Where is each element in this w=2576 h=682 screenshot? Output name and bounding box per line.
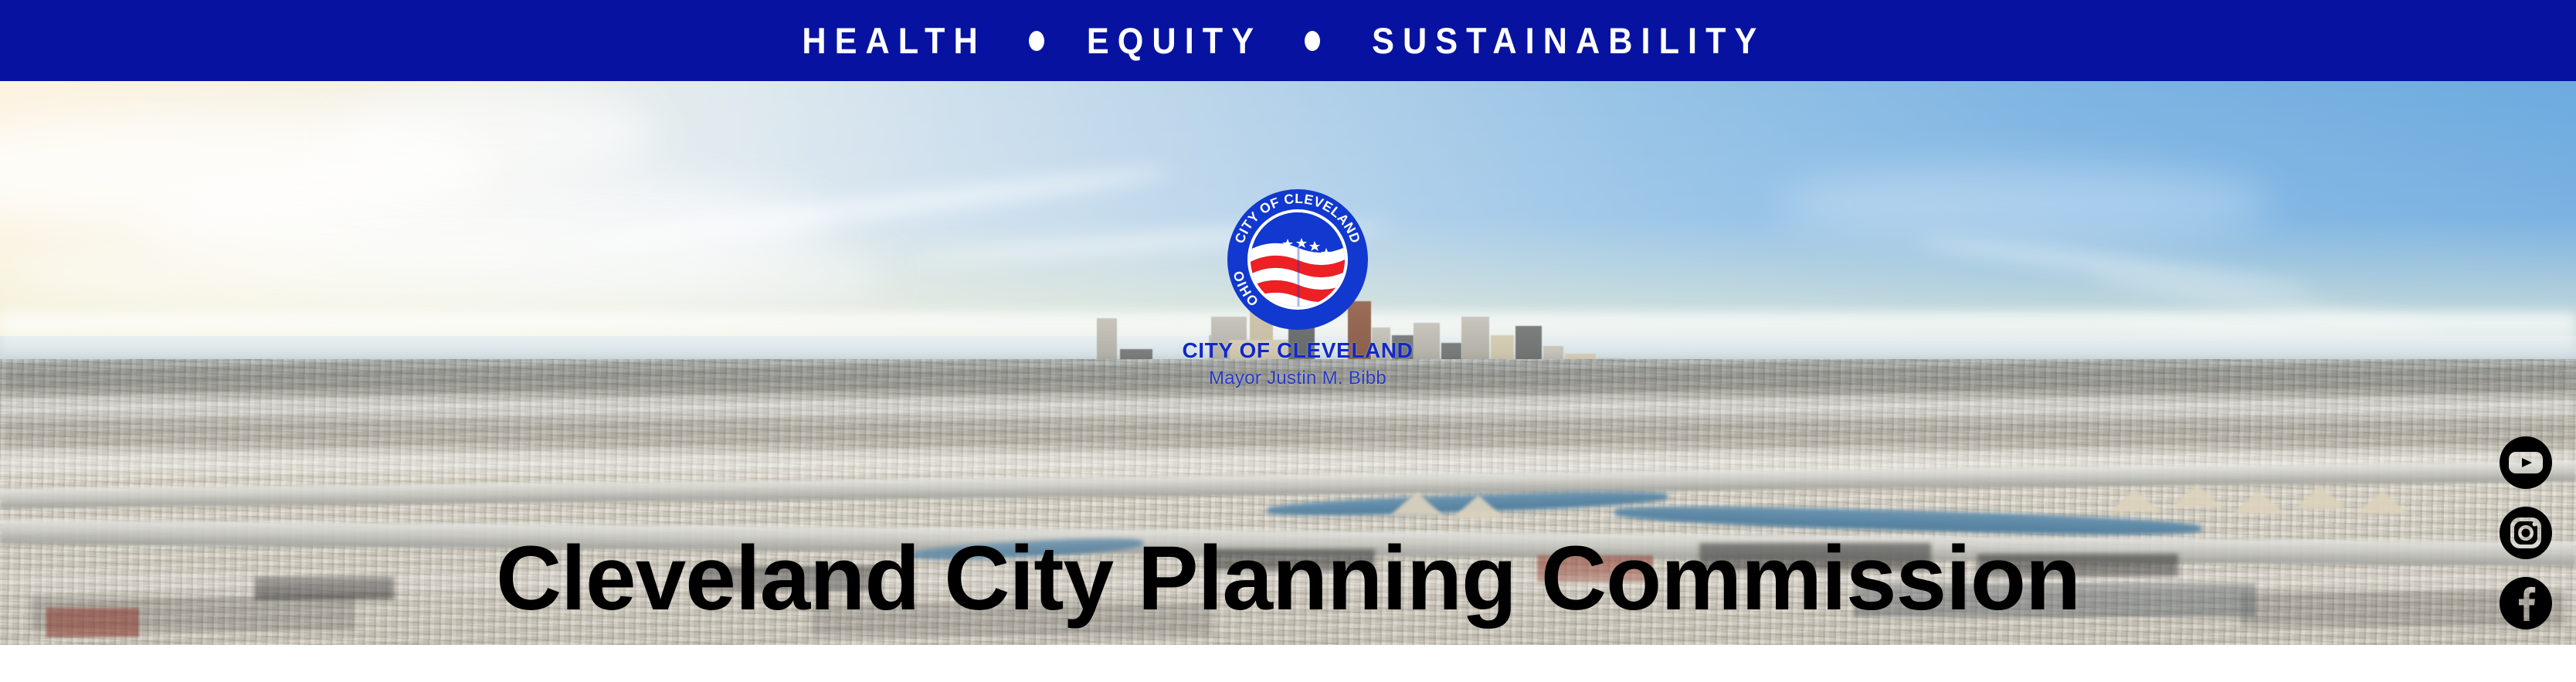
social-links — [2495, 433, 2557, 633]
tagline-item-health: HEALTH — [802, 22, 986, 59]
gravel-pile — [2170, 484, 2223, 507]
seal-flag-emblem — [1247, 212, 1349, 314]
hero-banner: CITY OF CLEVELAND OHIO — [0, 81, 2576, 645]
youtube-link[interactable] — [2496, 433, 2556, 493]
mayor-name: Mayor Justin M. Bibb — [1143, 368, 1452, 389]
snow-field — [0, 398, 2576, 418]
tagline-banner: HEALTH EQUITY SUSTAINABILITY — [0, 0, 2576, 81]
gravel-pile — [2356, 490, 2408, 514]
seal-flag-stripes — [1247, 243, 1349, 314]
gravel-pile — [1452, 495, 1505, 518]
instagram-icon[interactable] — [2496, 503, 2556, 563]
youtube-icon[interactable] — [2496, 433, 2556, 493]
gravel-pile — [2232, 490, 2285, 514]
tagline-item-equity: EQUITY — [1087, 22, 1262, 59]
tagline-separator-dot-1 — [1029, 31, 1044, 51]
page-root: HEALTH EQUITY SUSTAINABILITY — [0, 0, 2576, 682]
cloud-shape — [0, 228, 888, 321]
org-name: CITY OF CLEVELAND — [1143, 339, 1452, 363]
page-title: Cleveland City Planning Commission — [0, 533, 2576, 624]
cloud-shape — [1777, 166, 2271, 243]
gravel-pile — [1390, 492, 1443, 515]
facebook-link[interactable] — [2496, 573, 2556, 633]
gravel-pile — [2294, 486, 2347, 509]
seal-artwork: CITY OF CLEVELAND OHIO — [1227, 189, 1368, 330]
city-of-cleveland-seal-icon: CITY OF CLEVELAND OHIO — [1227, 189, 1368, 330]
brand-block: CITY OF CLEVELAND OHIO — [1143, 189, 1452, 389]
cloud-shape — [332, 89, 657, 182]
instagram-link[interactable] — [2496, 503, 2556, 563]
tagline-item-sustainability: SUSTAINABILITY — [1372, 22, 1765, 59]
facebook-icon[interactable] — [2496, 573, 2556, 633]
gravel-pile — [2109, 489, 2161, 512]
neighborhood-band — [0, 416, 2576, 450]
tagline-separator-dot-2 — [1305, 31, 1320, 51]
